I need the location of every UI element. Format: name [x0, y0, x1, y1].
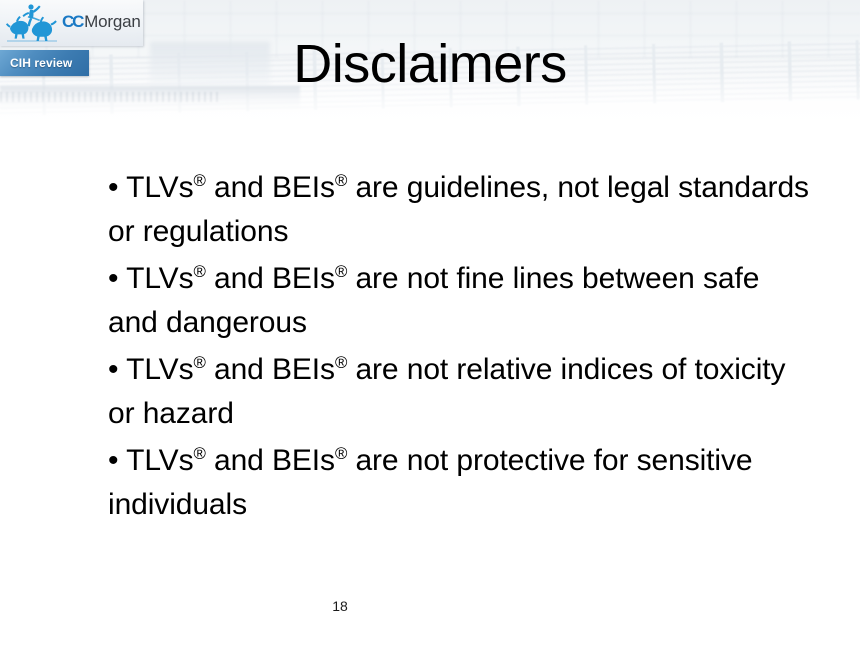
list-item: • TLVs® and BEIs® are not relative indic… — [108, 348, 814, 436]
list-item: • TLVs® and BEIs® are not protective for… — [108, 439, 814, 527]
registered-trademark-symbol: ® — [335, 262, 347, 281]
slide: CCMorgan CIH review Disclaimers • TLVs® … — [0, 0, 860, 650]
registered-trademark-symbol: ® — [335, 171, 347, 190]
wordmark-morgan: Morgan — [84, 12, 140, 31]
registered-trademark-symbol: ® — [194, 171, 206, 190]
registered-trademark-symbol: ® — [194, 444, 206, 463]
wordmark-cc: CC — [62, 12, 82, 31]
ccmorgan-wordmark: CCMorgan — [62, 13, 141, 31]
page-number: 18 — [0, 598, 860, 614]
list-item: • TLVs® and BEIs® are not fine lines bet… — [108, 257, 814, 345]
page-title: Disclaimers — [0, 34, 860, 94]
registered-trademark-symbol: ® — [194, 353, 206, 372]
registered-trademark-symbol: ® — [335, 353, 347, 372]
registered-trademark-symbol: ® — [194, 262, 206, 281]
bullet-list: • TLVs® and BEIs® are guidelines, not le… — [108, 166, 814, 527]
list-item: • TLVs® and BEIs® are guidelines, not le… — [108, 166, 814, 254]
registered-trademark-symbol: ® — [335, 444, 347, 463]
